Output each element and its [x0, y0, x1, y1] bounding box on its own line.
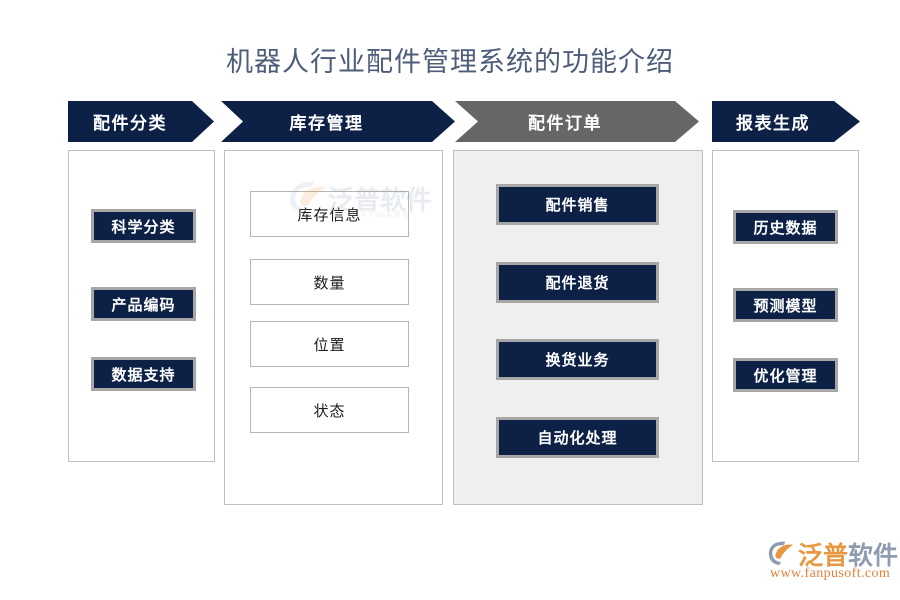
flow-stage-3-arrow-icon [675, 101, 699, 142]
feature-box-chanpinbianma[interactable]: 产品编码 [91, 287, 196, 321]
feature-box-youhuaguanli[interactable]: 优化管理 [733, 358, 838, 392]
feature-box-peijiantuihuo[interactable]: 配件退货 [496, 262, 659, 303]
feature-box-weizhi[interactable]: 位置 [250, 321, 409, 367]
feature-box-label: 历史数据 [753, 217, 817, 238]
feature-box-label: 科学分类 [111, 216, 175, 237]
flow-stage-2[interactable]: 库存管理 [221, 101, 432, 142]
feature-box-label: 位置 [313, 334, 345, 355]
feature-box-zhuangtai[interactable]: 状态 [250, 387, 409, 433]
feature-box-yucemoxing[interactable]: 预测模型 [733, 288, 838, 322]
flow-stage-4-label: 报表生成 [736, 109, 810, 134]
process-flow-banner: 配件分类 库存管理 配件订单 报表生成 [0, 101, 900, 142]
feature-box-zidonghuachuli[interactable]: 自动化处理 [496, 417, 659, 458]
feature-box-label: 自动化处理 [537, 427, 617, 448]
flow-stage-1[interactable]: 配件分类 [68, 101, 192, 142]
feature-box-lishishuju[interactable]: 历史数据 [733, 210, 838, 244]
diagram-canvas: 机器人行业配件管理系统的功能介绍 配件分类 库存管理 配件订单 报表生成 科学分… [0, 0, 900, 600]
feature-box-kucunxinxi[interactable]: 库存信息 [250, 191, 409, 237]
feature-box-label: 预测模型 [753, 295, 817, 316]
feature-box-label: 配件退货 [545, 272, 609, 293]
feature-box-label: 状态 [313, 400, 345, 421]
feature-box-peijianxiaoshou[interactable]: 配件销售 [496, 184, 659, 225]
flow-stage-2-arrow-icon [432, 101, 455, 142]
feature-box-label: 数量 [313, 272, 345, 293]
feature-box-shuliang[interactable]: 数量 [250, 259, 409, 305]
flow-stage-4-arrow-icon [834, 101, 860, 142]
feature-box-label: 优化管理 [753, 365, 817, 386]
brand-logo: 泛普软件 www.fanpusoft.com [766, 538, 892, 582]
feature-box-huanhuoyewu[interactable]: 换货业务 [496, 339, 659, 380]
feature-box-label: 产品编码 [111, 294, 175, 315]
feature-box-label: 换货业务 [545, 349, 609, 370]
flow-stage-1-label: 配件分类 [93, 109, 167, 134]
feature-box-shujuzhichi[interactable]: 数据支持 [91, 357, 196, 391]
feature-box-label: 库存信息 [297, 204, 361, 225]
feature-box-label: 配件销售 [545, 194, 609, 215]
feature-box-kexuefenlei[interactable]: 科学分类 [91, 209, 196, 243]
page-title: 机器人行业配件管理系统的功能介绍 [0, 40, 900, 79]
fanpu-logo-icon [766, 540, 796, 566]
brand-logo-url: www.fanpusoft.com [770, 566, 890, 582]
flow-stage-3[interactable]: 配件订单 [455, 101, 675, 142]
feature-box-label: 数据支持 [111, 364, 175, 385]
flow-stage-2-label: 库存管理 [290, 109, 364, 134]
flow-stage-4[interactable]: 报表生成 [712, 101, 834, 142]
flow-stage-1-arrow-icon [192, 101, 214, 142]
flow-stage-3-label: 配件订单 [528, 109, 602, 134]
